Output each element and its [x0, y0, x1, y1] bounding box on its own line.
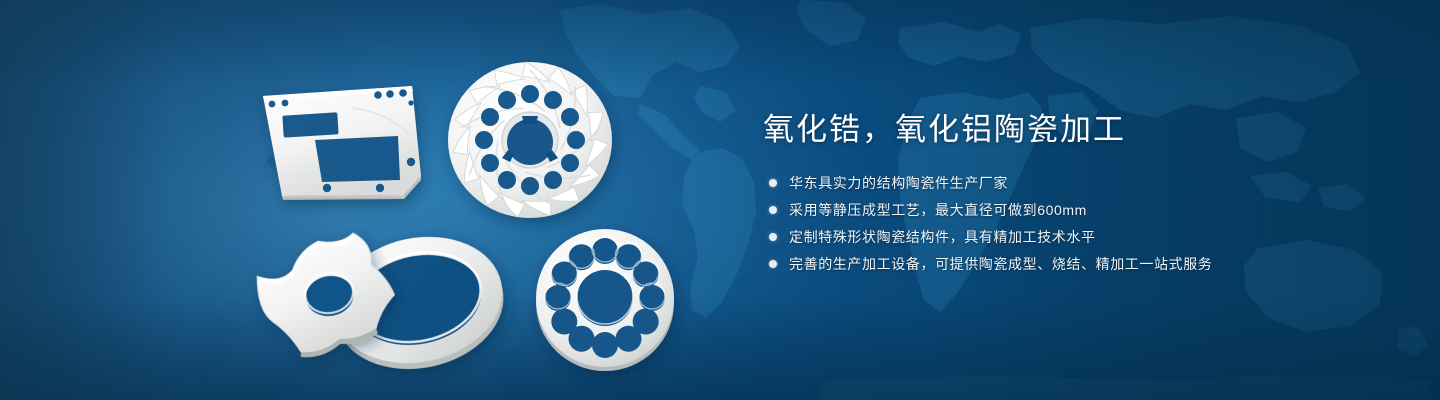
feature-item: 采用等静压成型工艺，最大直径可做到600mm	[769, 199, 1383, 221]
bullet-dot-icon	[769, 233, 777, 241]
feature-item: 完善的生产加工设备，可提供陶瓷成型、烧结、精加工一站式服务	[769, 253, 1383, 275]
feature-item: 定制特殊形状陶瓷结构件，具有精加工技术水平	[769, 226, 1383, 248]
bullet-dot-icon	[769, 260, 777, 268]
feature-item: 华东具实力的结构陶瓷件生产厂家	[769, 172, 1383, 194]
banner-headline: 氧化锆，氧化铝陶瓷加工	[763, 110, 1383, 150]
feature-text: 完善的生产加工设备，可提供陶瓷成型、烧结、精加工一站式服务	[789, 253, 1212, 275]
banner-text-panel: 氧化锆，氧化铝陶瓷加工 华东具实力的结构陶瓷件生产厂家 采用等静压成型工艺，最大…	[763, 110, 1383, 280]
product-ceramic-impeller	[448, 61, 612, 221]
feature-list: 华东具实力的结构陶瓷件生产厂家 采用等静压成型工艺，最大直径可做到600mm 定…	[769, 172, 1383, 275]
feature-text: 采用等静压成型工艺，最大直径可做到600mm	[789, 199, 1087, 221]
bullet-dot-icon	[769, 179, 777, 187]
feature-text: 华东具实力的结构陶瓷件生产厂家	[789, 172, 1008, 194]
bullet-dot-icon	[769, 206, 777, 214]
ceramic-products-image	[0, 0, 760, 400]
hero-banner: 氧化锆，氧化铝陶瓷加工 华东具实力的结构陶瓷件生产厂家 采用等静压成型工艺，最大…	[0, 0, 1440, 400]
product-ceramic-plate	[263, 86, 421, 200]
feature-text: 定制特殊形状陶瓷结构件，具有精加工技术水平	[789, 226, 1096, 248]
product-ceramic-perforated-disc	[536, 229, 674, 371]
